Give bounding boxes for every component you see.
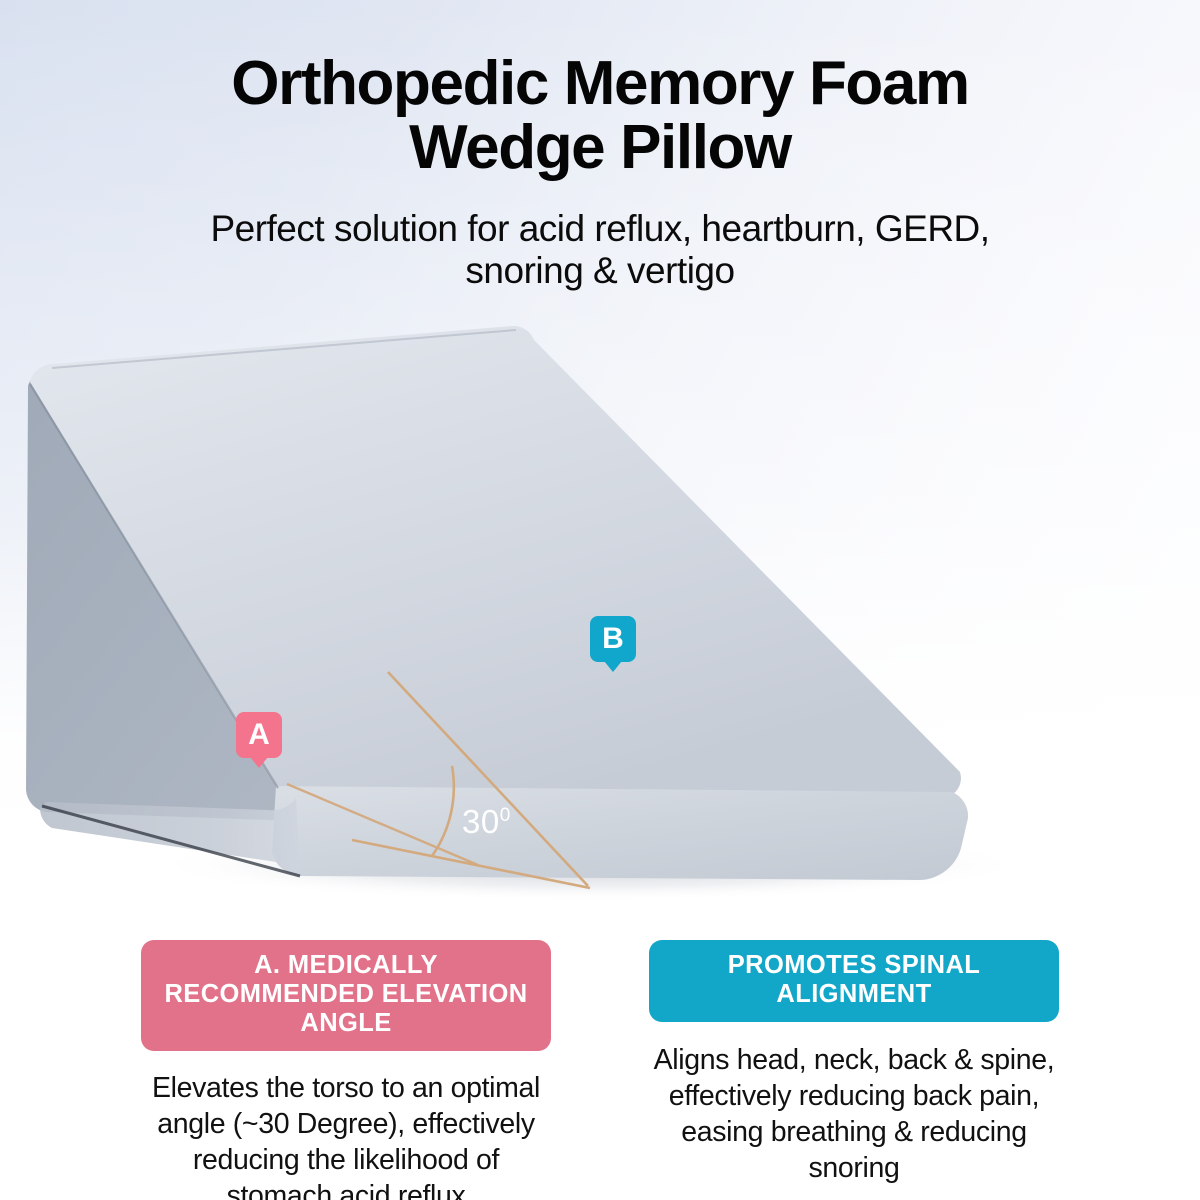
pillow-front-face: [272, 786, 968, 880]
product-infographic: Orthopedic Memory Foam Wedge Pillow Perf…: [0, 0, 1200, 1200]
angle-label: 300: [462, 805, 511, 838]
subtitle-line-2: snoring & vertigo: [465, 250, 734, 291]
title-line-2: Wedge Pillow: [409, 113, 791, 182]
page-title: Orthopedic Memory Foam Wedge Pillow: [150, 52, 1050, 180]
pin-marker-a[interactable]: A: [236, 712, 282, 758]
feature-column-spinal-alignment: PROMOTES SPINAL ALIGNMENT Aligns head, n…: [649, 940, 1059, 1200]
feature-body-spinal-alignment: Aligns head, neck, back & spine, effecti…: [649, 1043, 1059, 1187]
angle-unit: 0: [500, 805, 511, 826]
feature-badge-spinal-alignment: PROMOTES SPINAL ALIGNMENT: [649, 940, 1059, 1022]
header: Orthopedic Memory Foam Wedge Pillow Perf…: [0, 0, 1200, 292]
feature-list: A. MEDICALLY RECOMMENDED ELEVATION ANGLE…: [0, 940, 1200, 1200]
feature-body-elevation-angle: Elevates the torso to an optimal angle (…: [141, 1071, 551, 1200]
pin-marker-a-label: A: [248, 720, 270, 750]
pin-marker-b[interactable]: B: [590, 616, 636, 662]
title-line-1: Orthopedic Memory Foam: [231, 49, 968, 118]
feature-column-elevation-angle: A. MEDICALLY RECOMMENDED ELEVATION ANGLE…: [141, 940, 551, 1200]
subtitle-line-1: Perfect solution for acid reflux, heartb…: [210, 208, 989, 249]
angle-value: 30: [462, 803, 500, 840]
feature-badge-elevation-angle: A. MEDICALLY RECOMMENDED ELEVATION ANGLE: [141, 940, 551, 1051]
pin-marker-b-label: B: [602, 624, 624, 654]
page-subtitle: Perfect solution for acid reflux, heartb…: [120, 208, 1080, 292]
